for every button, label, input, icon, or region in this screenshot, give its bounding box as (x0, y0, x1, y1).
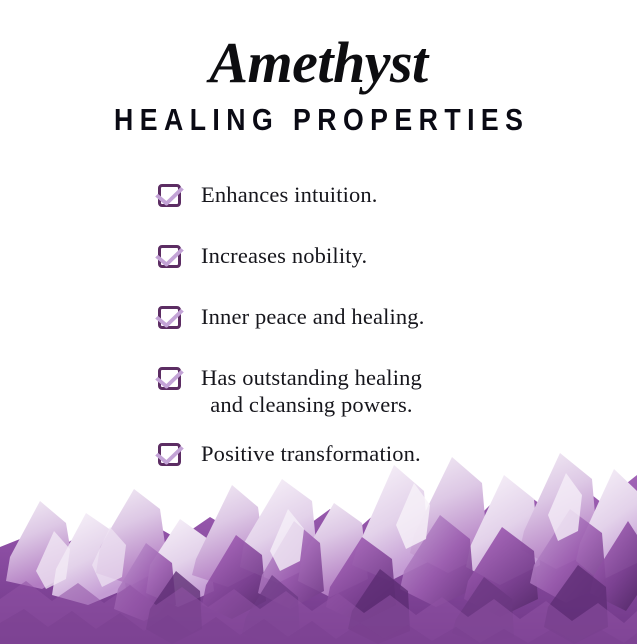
checked-checkbox-icon (158, 367, 181, 390)
list-item-label: Increases nobility. (201, 242, 367, 269)
amethyst-crystal-cluster-photo (0, 439, 637, 644)
list-item: Has outstanding healing and cleansing po… (0, 364, 637, 418)
checked-checkbox-icon (158, 443, 181, 466)
checked-checkbox-icon (158, 306, 181, 329)
page-title: Amethyst (0, 0, 637, 92)
list-item: Enhances intuition. (0, 181, 637, 208)
checked-checkbox-icon (158, 184, 181, 207)
list-item-label: Positive transformation. (201, 440, 421, 467)
list-item: Inner peace and healing. (0, 303, 637, 330)
list-item: Increases nobility. (0, 242, 637, 269)
list-item-label: Inner peace and healing. (201, 303, 424, 330)
amethyst-healing-properties-poster: Amethyst HEALING PROPERTIES Enhances int… (0, 0, 637, 644)
checked-checkbox-icon (158, 245, 181, 268)
list-item: Positive transformation. (0, 440, 637, 467)
list-item-label: Enhances intuition. (201, 181, 378, 208)
poster-header: Amethyst HEALING PROPERTIES (0, 0, 637, 135)
properties-list: Enhances intuition. Increases nobility. … (0, 181, 637, 467)
list-item-label: Has outstanding healing and cleansing po… (201, 364, 422, 418)
page-subtitle: HEALING PROPERTIES (45, 92, 593, 135)
